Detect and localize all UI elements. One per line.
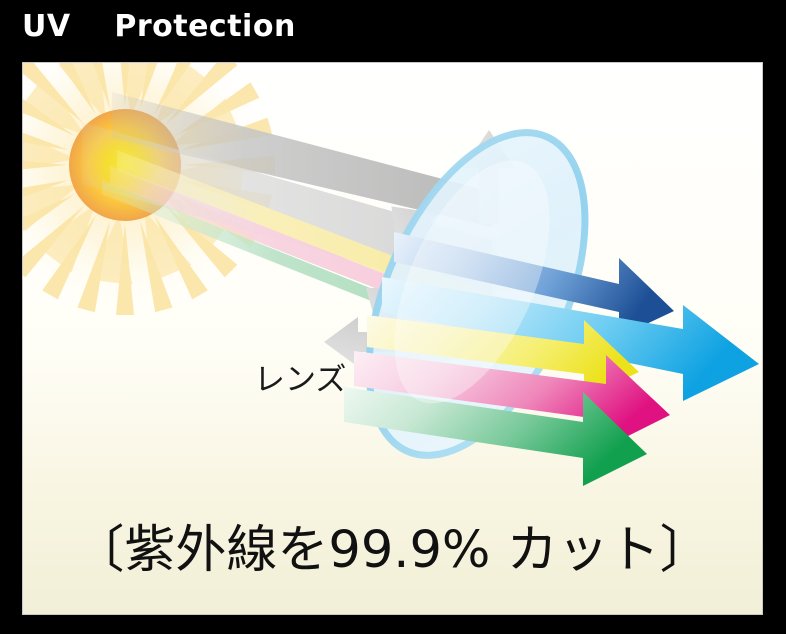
illustration-svg: レンズ 〔紫外線を99.9% カット〕 (22, 62, 763, 615)
uv-protection-illustration-card: レンズ 〔紫外線を99.9% カット〕 (22, 62, 763, 615)
lens-label: レンズ (254, 362, 346, 398)
caption-text: 〔紫外線を99.9% カット〕 (73, 521, 710, 580)
page-title: UV Protection (22, 6, 622, 48)
page-root: UV Protection (0, 0, 786, 634)
